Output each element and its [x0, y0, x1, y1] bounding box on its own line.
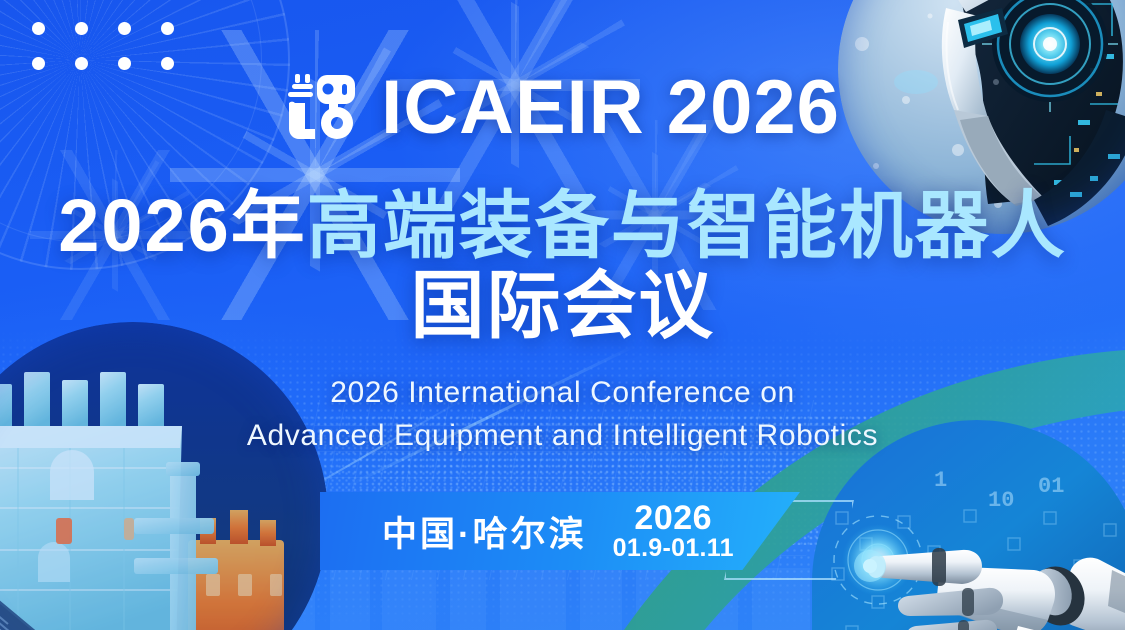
chinese-title: 2026年高端装备与智能机器人 国际会议 [0, 186, 1125, 346]
corner-dot-grid [32, 22, 174, 70]
chinese-title-year: 2026年 [58, 184, 307, 267]
event-date-range: 01.9-01.11 [613, 536, 734, 562]
english-subtitle: 2026 International Conference on Advance… [0, 372, 1125, 457]
brand-header: ICAEIR 2026 [0, 70, 1125, 146]
dot [75, 57, 88, 70]
english-subtitle-line2: Advanced Equipment and Intelligent Robot… [0, 415, 1125, 458]
dot [118, 22, 131, 35]
svg-text:01: 01 [1038, 474, 1064, 499]
dot [32, 22, 45, 35]
dot [161, 22, 174, 35]
dot [118, 57, 131, 70]
event-location: 中国·哈尔滨 [382, 506, 587, 557]
robot-logo-icon [285, 71, 359, 145]
svg-text:1: 1 [934, 468, 947, 493]
event-date: 2026 01.9-01.11 [613, 501, 734, 561]
conference-banner: 1001 01101 [0, 0, 1125, 630]
chinese-title-accent: 高端装备与智能机器人 [307, 184, 1067, 267]
english-subtitle-line1: 2026 International Conference on [0, 372, 1125, 415]
dot [32, 57, 45, 70]
event-date-year: 2026 [634, 501, 712, 536]
event-info-banner: 中国·哈尔滨 2026 01.9-01.11 [320, 492, 840, 570]
event-info-bar: 中国·哈尔滨 2026 01.9-01.11 [320, 492, 800, 570]
dot [161, 57, 174, 70]
chinese-title-line2: 国际会议 [0, 266, 1125, 346]
svg-text:10: 10 [988, 488, 1014, 513]
harbin-ice-castle-photo [0, 322, 328, 630]
dot [75, 22, 88, 35]
brand-title: ICAEIR 2026 [381, 70, 840, 146]
